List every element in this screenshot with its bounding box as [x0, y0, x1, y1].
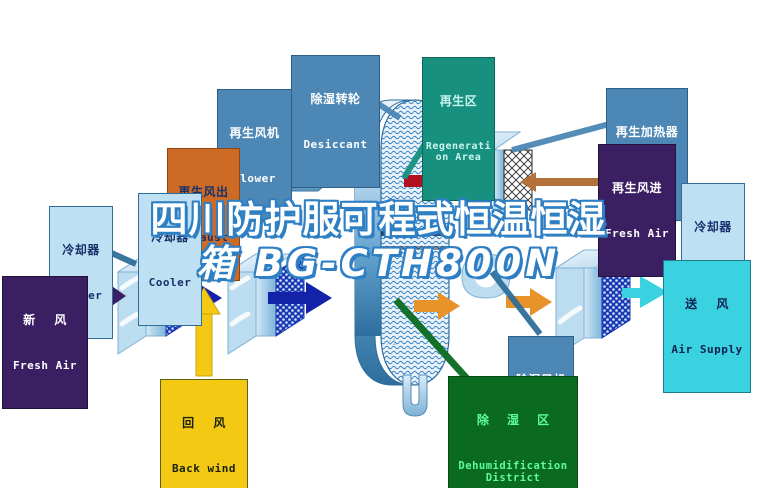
label-dehumidification-district[interactable]: 除 湿 区 Dehumidification District — [448, 376, 578, 488]
label-cooler-right-cn: 冷却器 — [684, 221, 742, 234]
label-cooler-left-2[interactable]: 冷却器 Cooler — [138, 193, 202, 326]
dehum-blower-body — [462, 254, 510, 298]
label-regeneration-fresh-air-cn: 再生风进 — [601, 182, 673, 195]
label-fresh-air-inlet[interactable]: 新 风 Fresh Air — [2, 276, 88, 409]
label-dehumidification-district-cn: 除 湿 区 — [451, 414, 575, 427]
label-regeneration-fresh-air[interactable]: 再生风进 Fresh Air — [598, 144, 676, 277]
label-cooler-left-1-cn: 冷却器 — [52, 244, 110, 257]
regen-intake-arrow — [520, 172, 610, 192]
label-dehumidification-district-en: Dehumidification District — [451, 460, 575, 485]
label-desiccant-rotor-en: Desiccant — [294, 139, 377, 151]
label-desiccant-rotor[interactable]: 除湿转轮 Desiccant — [291, 55, 380, 188]
label-fresh-air-inlet-cn: 新 风 — [5, 314, 85, 327]
label-desiccant-rotor-cn: 除湿转轮 — [294, 93, 377, 106]
label-fresh-air-inlet-en: Fresh Air — [5, 360, 85, 372]
label-back-wind-en: Back wind — [163, 463, 245, 475]
label-regeneration-area-en: Regenerati on Area — [425, 141, 492, 164]
label-air-supply-en: Air Supply — [666, 344, 748, 356]
label-cooler-left-2-cn: 冷却器 — [141, 231, 199, 244]
label-regeneration-heater-cn: 再生加热器 — [609, 126, 685, 139]
svg-text:x1: x1 — [386, 338, 397, 348]
label-air-supply-cn: 送 风 — [666, 298, 748, 311]
label-regeneration-area-cn: 再生区 — [425, 95, 492, 108]
diagram-canvas: x1 — [0, 0, 757, 488]
label-regeneration-area[interactable]: 再生区 Regenerati on Area — [422, 57, 495, 201]
label-regeneration-fresh-air-en: Fresh Air — [601, 228, 673, 240]
label-back-wind-cn: 回 风 — [163, 417, 245, 430]
label-cooler-left-2-en: Cooler — [141, 277, 199, 289]
label-back-wind[interactable]: 回 风 Back wind — [160, 379, 248, 488]
label-air-supply[interactable]: 送 风 Air Supply — [663, 260, 751, 393]
label-regeneration-blower-cn: 再生风机 — [220, 127, 289, 140]
